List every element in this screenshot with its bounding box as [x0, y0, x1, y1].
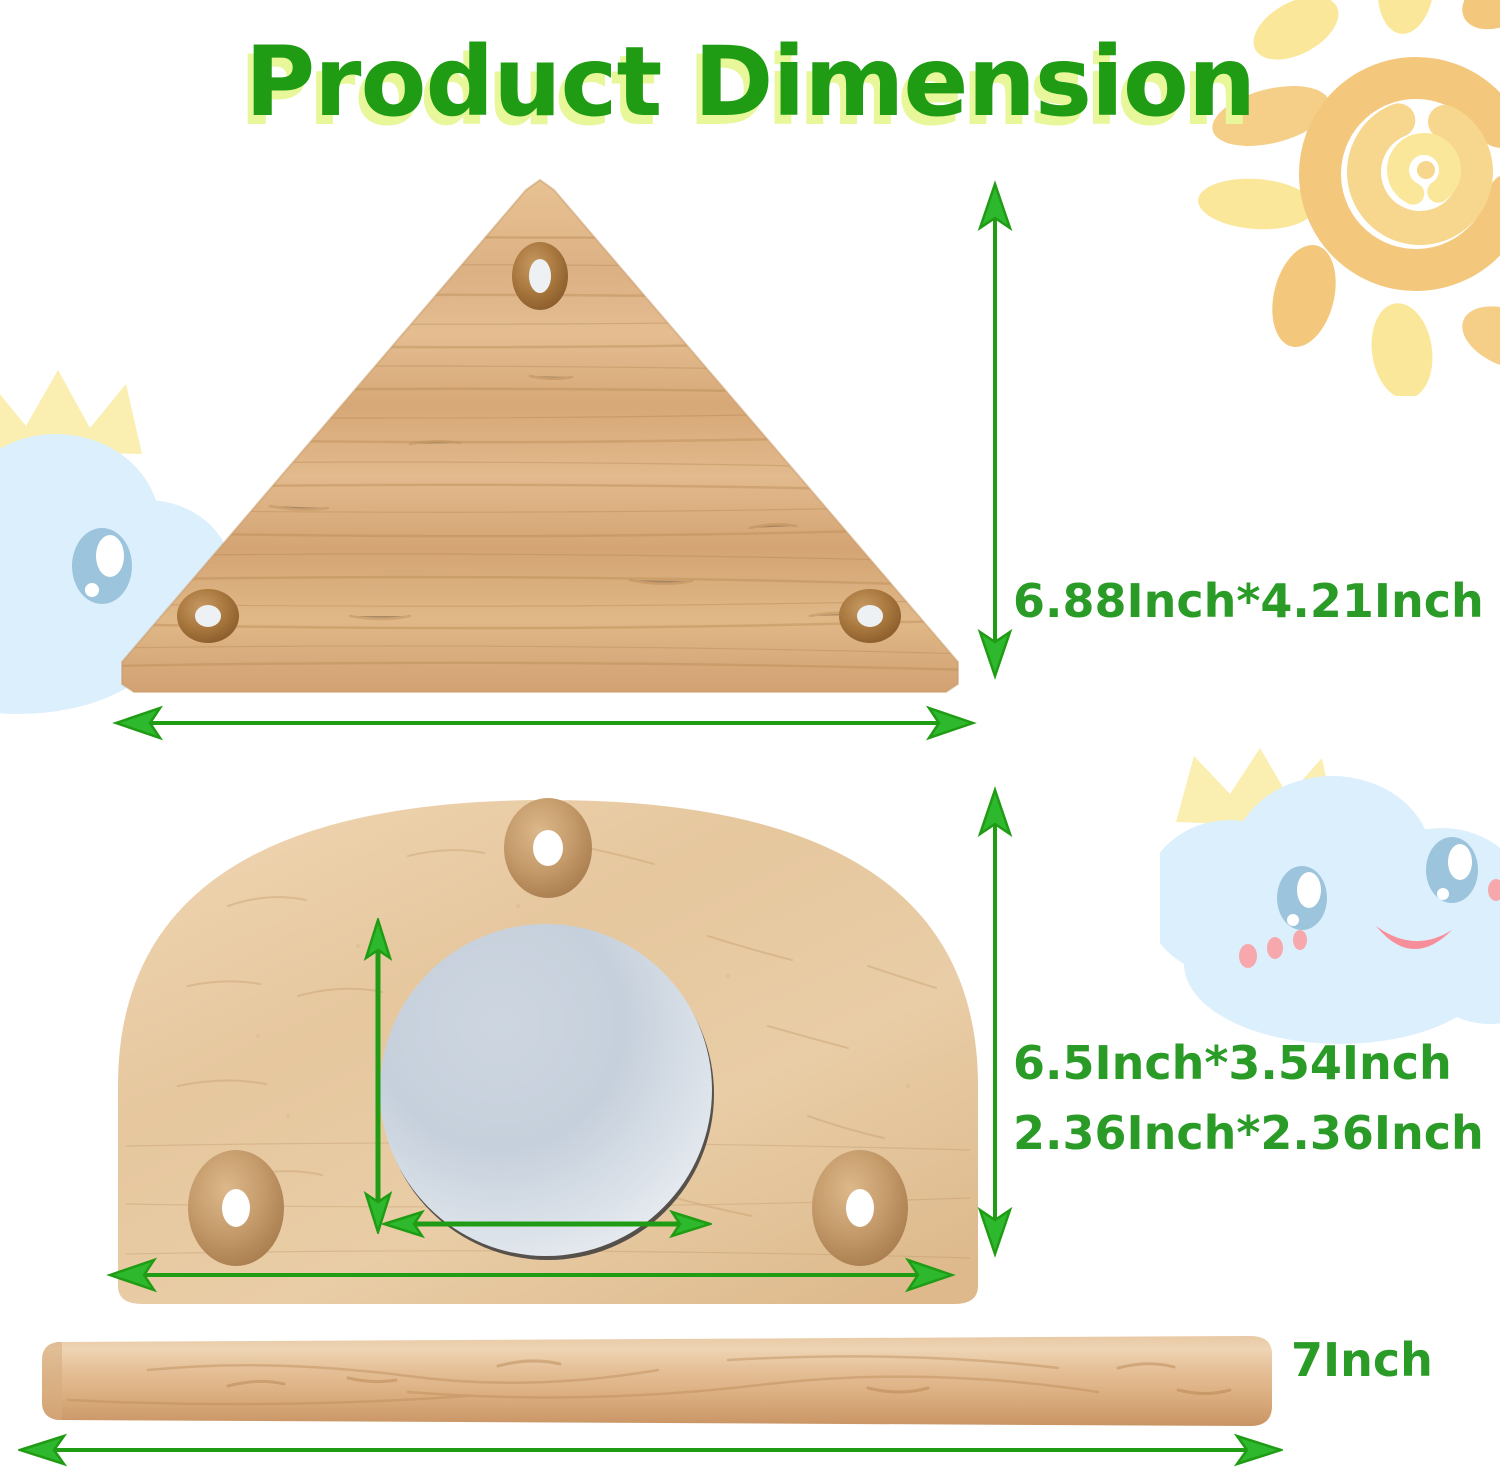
- triangle-width-arrow: [112, 700, 977, 746]
- dowel-rod: [28, 1330, 1283, 1435]
- dome-mirror-dimension-label: 2.36Inch*2.36Inch: [1013, 1106, 1484, 1160]
- rod-dimension-label: 7Inch: [1291, 1333, 1433, 1387]
- cloud-character-right-icon: [1160, 748, 1500, 1078]
- rod-length-arrow: [18, 1430, 1283, 1470]
- dome-shelf: [108, 786, 988, 1308]
- dome-shelf-dimension-label: 6.5Inch*3.54Inch: [1013, 1036, 1452, 1090]
- triangle-shelf: [110, 176, 970, 696]
- page-title: Product Dimension: [0, 26, 1500, 138]
- infographic-canvas: Product Dimension 6.88Inch*4.21Inch 6.5I…: [0, 0, 1500, 1470]
- mirror: [380, 924, 714, 1260]
- sun-icon: [1178, 0, 1500, 396]
- triangle-dimension-label: 6.88Inch*4.21Inch: [1013, 574, 1484, 628]
